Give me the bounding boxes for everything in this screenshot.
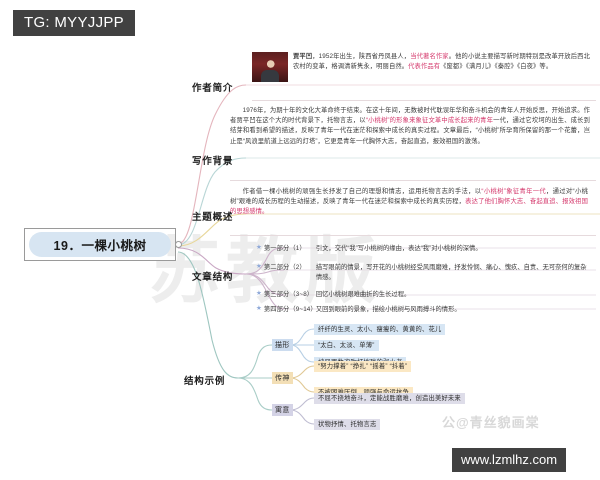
- author-intro-highlight-2: 代表作品有: [408, 63, 440, 70]
- example-chip-yuyi-1[interactable]: 不屈不挠地奋斗，定能战胜磨难，创造出美好未来: [314, 393, 465, 404]
- branch-label-writing-background[interactable]: 写作背景: [192, 153, 233, 167]
- author-intro-seg-1: ，1952年出生，陕西省丹凤县人，: [312, 53, 410, 60]
- structure-row-3-label: 第三部分（3~8）: [264, 290, 316, 300]
- writing-background-pane: 1976年，为期十年的文化大革命终于结束。在这十年间，无数被时代耽误年华和奋斗机…: [230, 106, 590, 147]
- structure-row-3-text: 回忆小桃树艰难曲折的生长过程。: [316, 290, 592, 300]
- star-icon: ★: [256, 244, 262, 252]
- star-icon: ★: [256, 305, 262, 313]
- structure-row-3[interactable]: ★ 第三部分（3~8） 回忆小桃树艰难曲折的生长过程。: [256, 290, 592, 300]
- example-chip-yuyi-2[interactable]: 状物抒情、托物言志: [314, 419, 380, 430]
- structure-row-1[interactable]: ★ 第一部分（1） 引文，交代“我”写小桃树的缘由，表达“我”对小桃树的深情。: [256, 244, 592, 254]
- author-name: 贾平凹: [293, 53, 312, 60]
- structure-row-2-text: 描写眼前的情景，写开花的小桃树经受风雨磨难，抒发怜悯、痛心、愧疚、自责、无可奈何…: [316, 263, 592, 283]
- bg-highlight: “小桃树”的形象来象征文革中成长起来的青年: [366, 117, 493, 124]
- branch-label-author-intro[interactable]: 作者简介: [192, 80, 233, 94]
- root-node[interactable]: 19．一棵小桃树: [29, 232, 171, 257]
- structure-row-4[interactable]: ★ 第四部分（9~14） 又回到眼前的景象，描绘小桃树与风雨搏斗的情形。: [256, 305, 592, 315]
- example-category-chuanshen[interactable]: 传神: [272, 372, 293, 384]
- author-intro-highlight-1: 当代著名作家: [410, 53, 449, 60]
- author-portrait-icon: [252, 52, 288, 82]
- structure-row-4-text: 又回到眼前的景象，描绘小桃树与风雨搏斗的情形。: [316, 305, 592, 315]
- example-chip-miaoxing-1[interactable]: 纤纤的生灵、太小、瘦瘦的、黄黄的、花儿: [314, 324, 445, 335]
- star-icon: ★: [256, 263, 262, 271]
- structure-row-1-label: 第一部分（1）: [264, 244, 316, 254]
- example-chip-miaoxing-2[interactable]: “太白、太淡、单薄”: [314, 340, 379, 351]
- theme-seg-1: 作者借一棵小桃树的顽强生长抒发了自己的理想和情志，运用托物言志的手法，以: [243, 188, 482, 195]
- structure-row-4-label: 第四部分（9~14）: [264, 305, 316, 315]
- star-icon: ★: [256, 290, 262, 298]
- corner-watermark: 公@青丝貌画棠: [442, 412, 540, 431]
- writing-background-text: 1976年，为期十年的文化大革命终于结束。在这十年间，无数被时代耽误年华和奋斗机…: [230, 106, 590, 147]
- theme-highlight-1: “小桃树”象征青年一代: [481, 188, 546, 195]
- author-intro-text: 贾平凹，1952年出生，陕西省丹凤县人，当代著名作家。他的小说主要描写新时期特别…: [252, 52, 590, 72]
- example-category-miaoxing[interactable]: 描形: [272, 339, 293, 351]
- author-intro-seg-3: 《废都》《满月儿》《秦腔》《白夜》等。: [440, 63, 552, 70]
- structure-row-1-text: 引文，交代“我”写小桃树的缘由，表达“我”对小桃树的深情。: [316, 244, 592, 254]
- branch-label-structure-example[interactable]: 结构示例: [184, 373, 225, 387]
- footer-url-badge: www.lzmlhz.com: [452, 448, 566, 472]
- branch-label-article-structure[interactable]: 文章结构: [192, 269, 233, 283]
- author-intro-pane: 贾平凹，1952年出生，陕西省丹凤县人，当代著名作家。他的小说主要描写新时期特别…: [252, 52, 590, 83]
- example-category-yuyi[interactable]: 寓意: [272, 404, 293, 416]
- structure-row-2-label: 第二部分（2）: [264, 263, 316, 273]
- branch-label-theme-overview[interactable]: 主题概述: [192, 209, 233, 223]
- structure-row-2[interactable]: ★ 第二部分（2） 描写眼前的情景，写开花的小桃树经受风雨磨难，抒发怜悯、痛心、…: [256, 263, 592, 283]
- root-collapse-handle[interactable]: [175, 241, 182, 248]
- theme-overview-pane: 作者借一棵小桃树的顽强生长抒发了自己的理想和情志，运用托物言志的手法，以“小桃树…: [230, 187, 588, 218]
- example-chip-chuanshen-1[interactable]: “努力撑着” “挣扎” “摇着” “抖着”: [314, 361, 411, 372]
- tg-badge: TG: MYYJJPP: [13, 10, 135, 36]
- mindmap-canvas: 苏教版 公@青丝貌画棠: [0, 0, 600, 480]
- theme-overview-text: 作者借一棵小桃树的顽强生长抒发了自己的理想和情志，运用托物言志的手法，以“小桃树…: [230, 187, 588, 218]
